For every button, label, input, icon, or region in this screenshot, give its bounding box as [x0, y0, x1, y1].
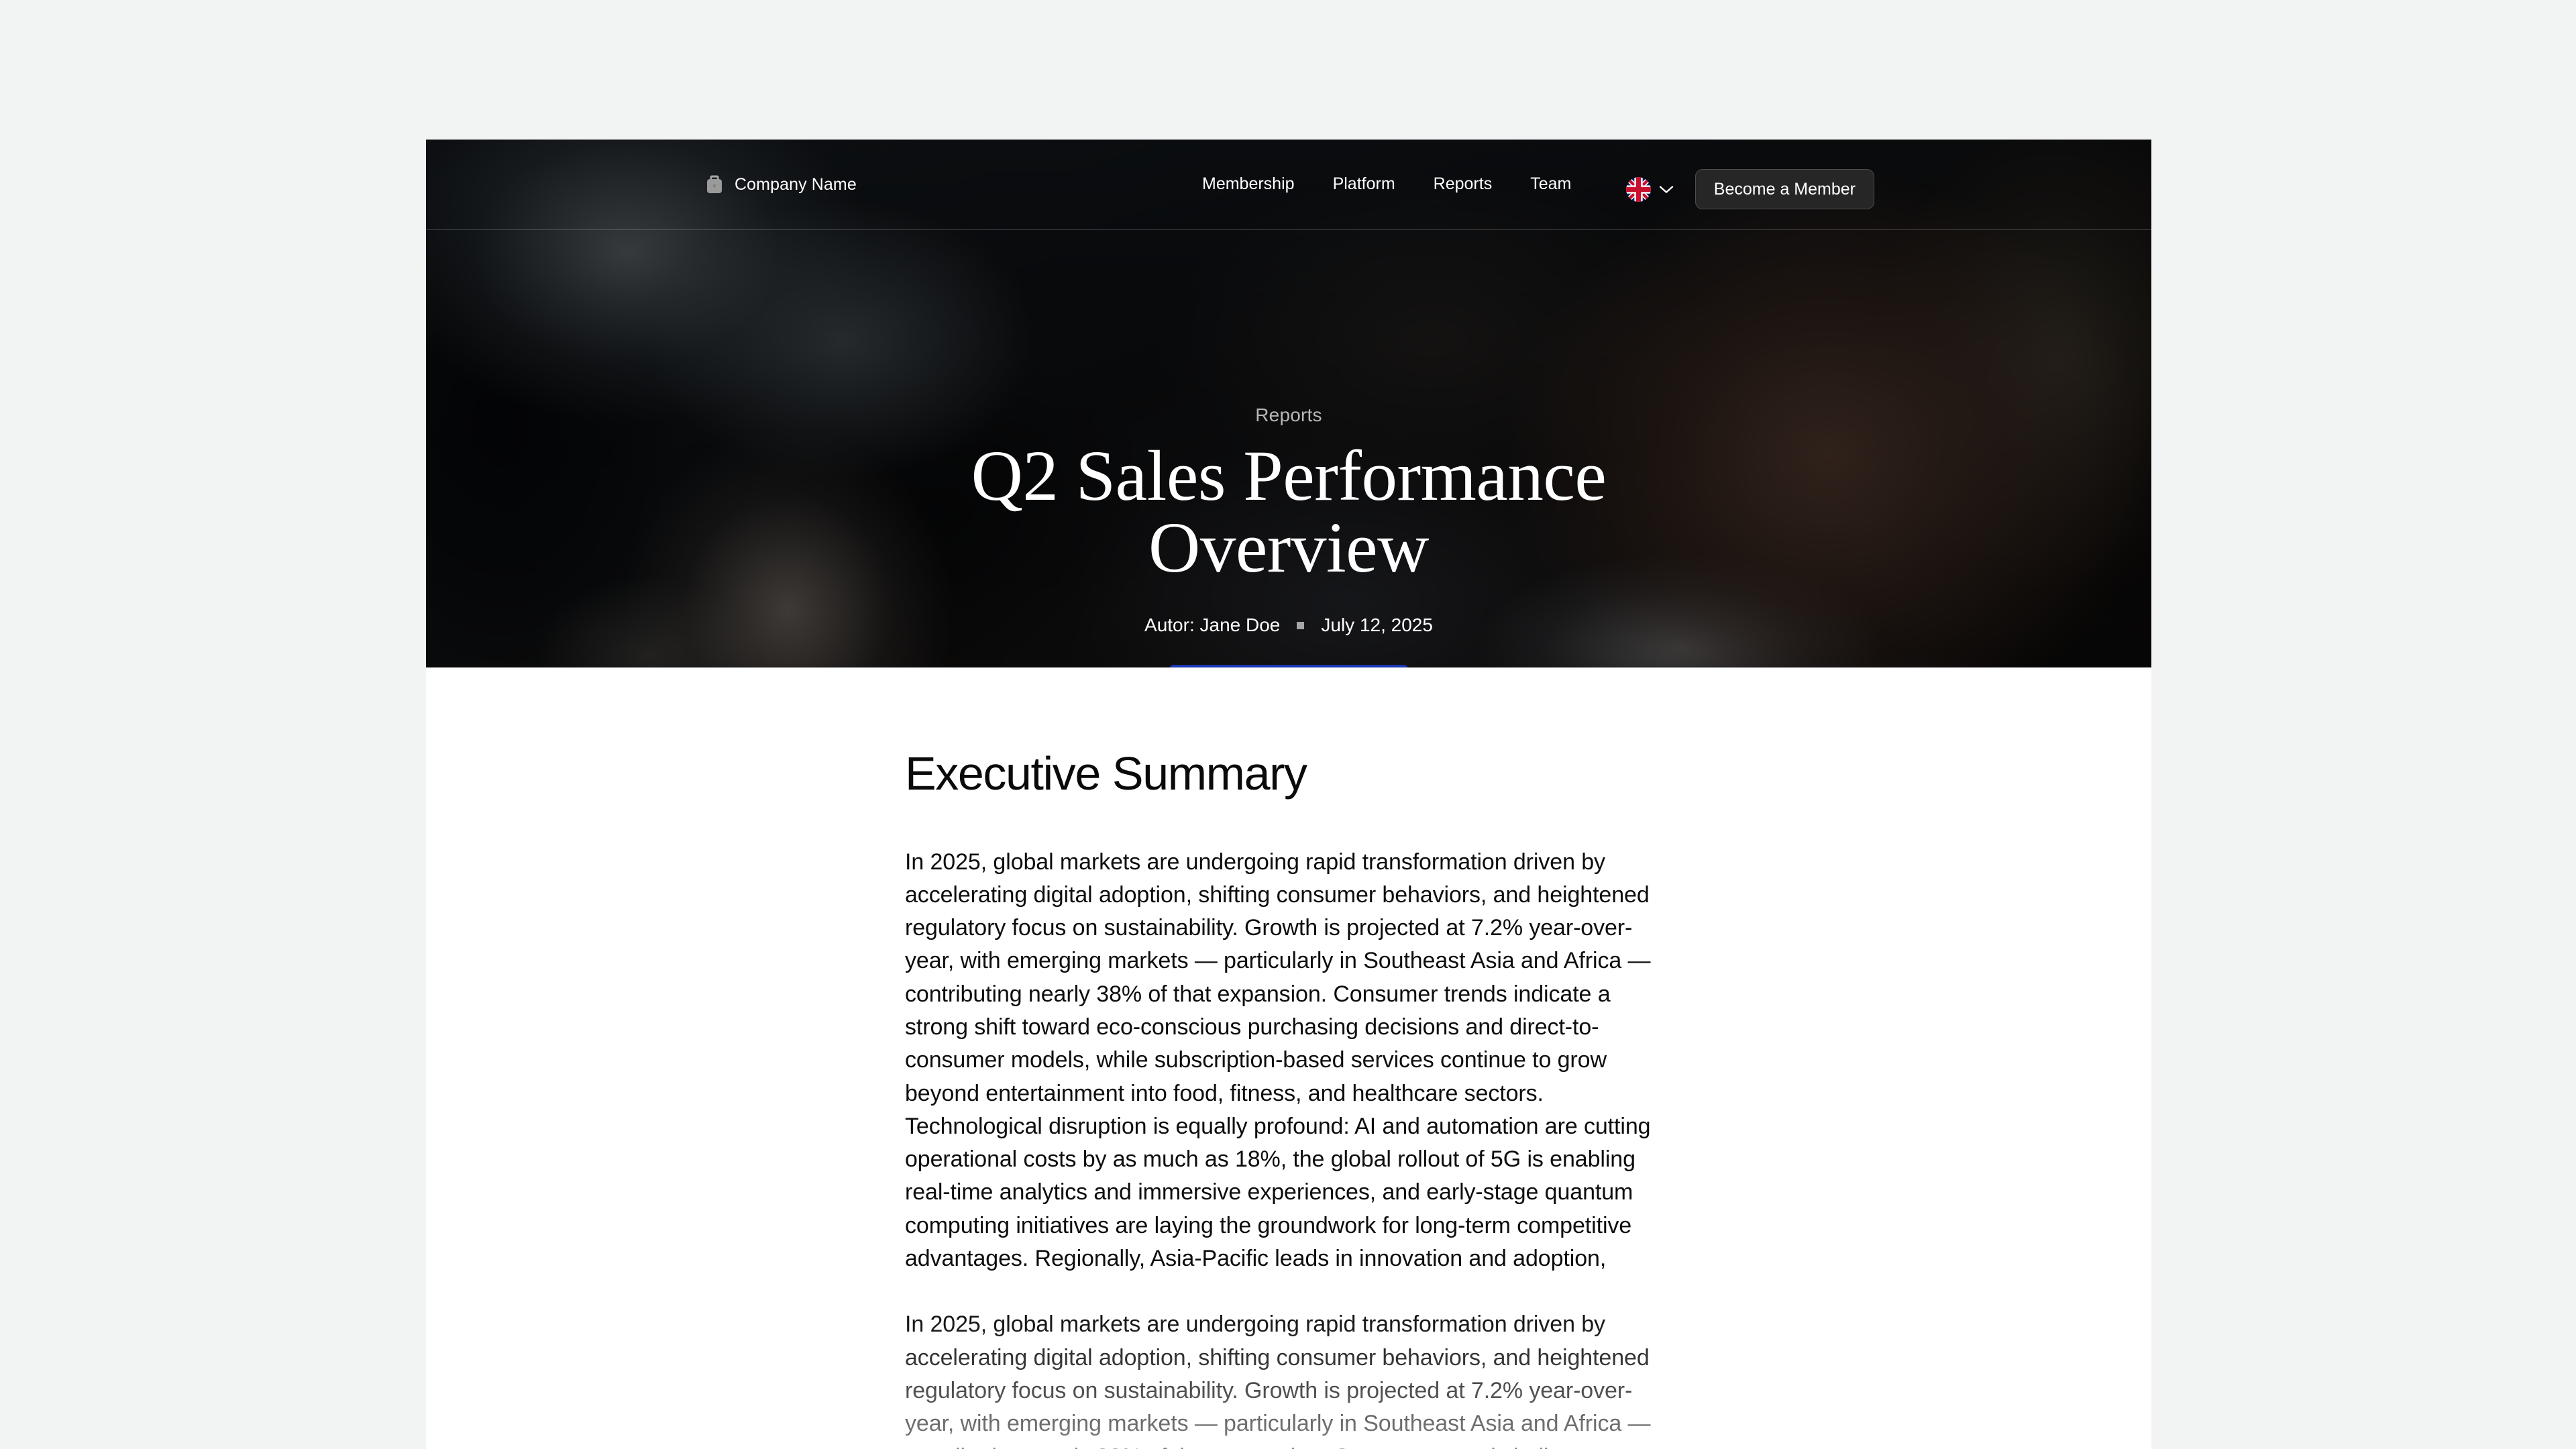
navbar-right: Become a Member	[1626, 169, 1874, 209]
byline-author: Autor: Jane Doe	[1144, 614, 1280, 636]
become-a-member-button[interactable]: Become a Member	[1695, 169, 1874, 209]
nav-links: Membership Platform Reports Team	[1202, 174, 1571, 194]
briefcase-icon	[704, 173, 725, 196]
navbar: Company Name Membership Platform Reports…	[426, 140, 2151, 229]
brand-logo[interactable]: Company Name	[704, 173, 857, 196]
byline-date: July 12, 2025	[1321, 614, 1433, 636]
uk-flag-icon	[1626, 177, 1651, 202]
article-section: Executive Summary In 2025, global market…	[426, 749, 2151, 1449]
hero-section: Company Name Membership Platform Reports…	[426, 140, 2151, 667]
nav-link-membership[interactable]: Membership	[1202, 174, 1295, 194]
hero-eyebrow: Reports	[1255, 405, 1322, 426]
article-paragraph-1: In 2025, global markets are undergoing r…	[905, 846, 1673, 1276]
article-paragraph-2: In 2025, global markets are undergoing r…	[905, 1308, 1673, 1449]
chevron-down-icon	[1659, 185, 1674, 194]
byline: Autor: Jane Doe July 12, 2025	[1144, 614, 1433, 636]
byline-separator-icon	[1297, 622, 1304, 629]
brand-name: Company Name	[735, 175, 857, 195]
article-column: Executive Summary In 2025, global market…	[905, 749, 1673, 1449]
return-to-all-reports-button[interactable]: Return to all reports	[1169, 665, 1407, 667]
page-card: Company Name Membership Platform Reports…	[426, 140, 2151, 1449]
nav-link-team[interactable]: Team	[1530, 174, 1571, 194]
navbar-divider	[426, 229, 2151, 230]
page-title: Q2 Sales Performance Overview	[903, 441, 1674, 584]
nav-link-reports[interactable]: Reports	[1434, 174, 1493, 194]
section-title-executive-summary: Executive Summary	[905, 749, 1673, 799]
language-selector[interactable]	[1626, 177, 1674, 202]
nav-link-platform[interactable]: Platform	[1333, 174, 1395, 194]
